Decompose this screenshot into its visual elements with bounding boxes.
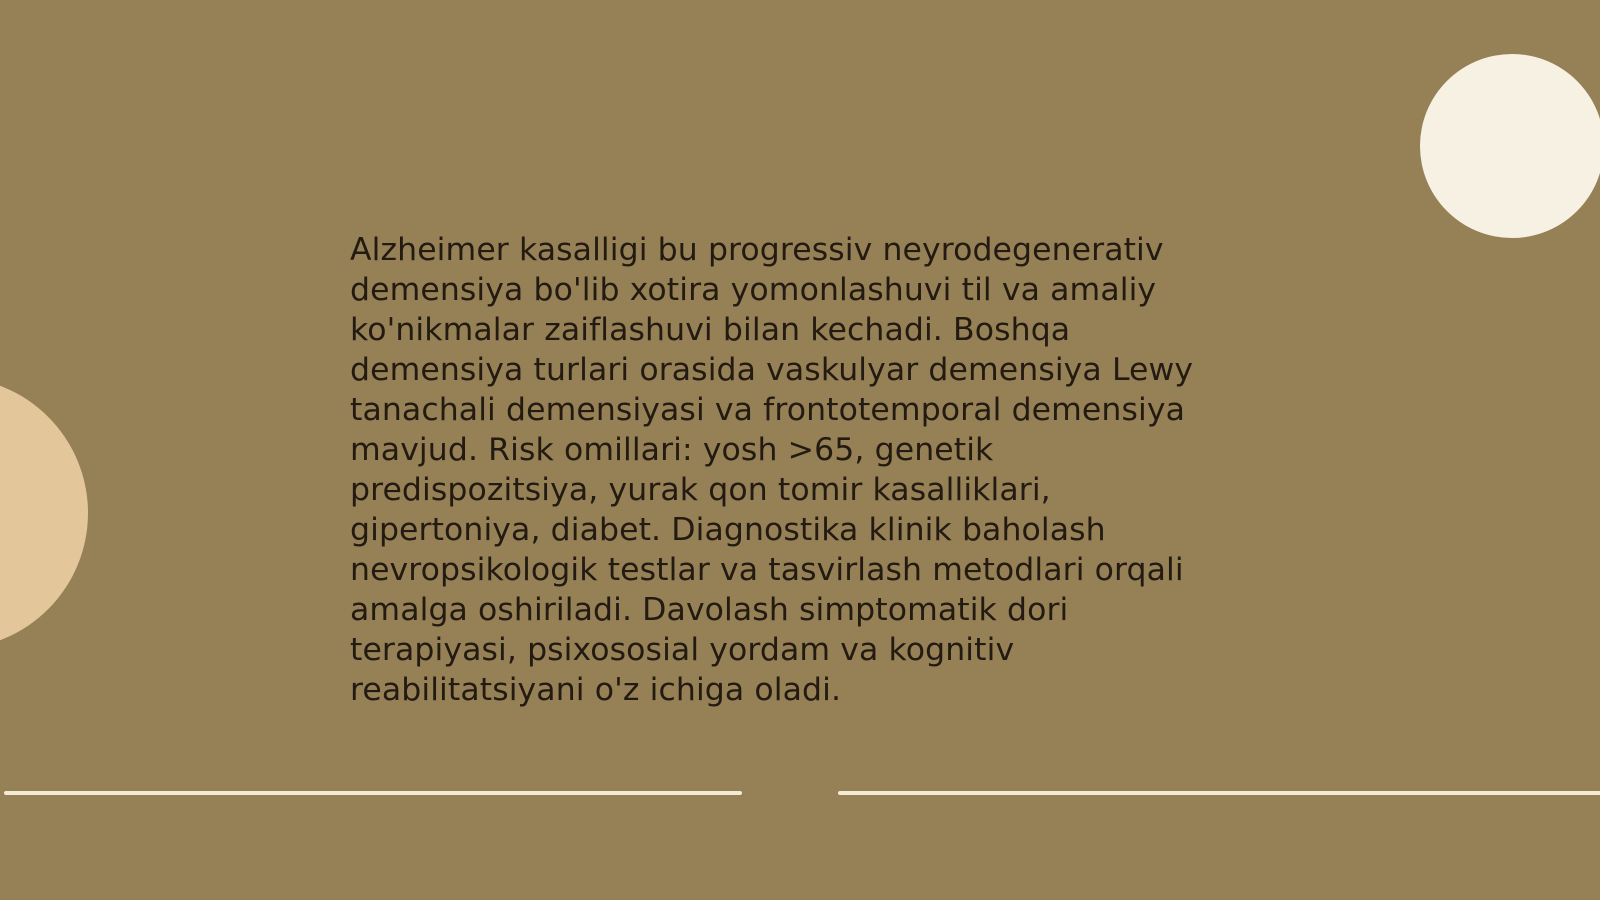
right-divider-rule [838, 791, 1600, 795]
sand-circle-decoration [0, 377, 88, 649]
slide-body-text: Alzheimer kasalligi bu progressiv neyrod… [350, 230, 1198, 710]
slide-canvas: Alzheimer kasalligi bu progressiv neyrod… [0, 0, 1600, 900]
left-divider-rule [4, 791, 742, 795]
cream-circle-decoration [1420, 54, 1600, 238]
